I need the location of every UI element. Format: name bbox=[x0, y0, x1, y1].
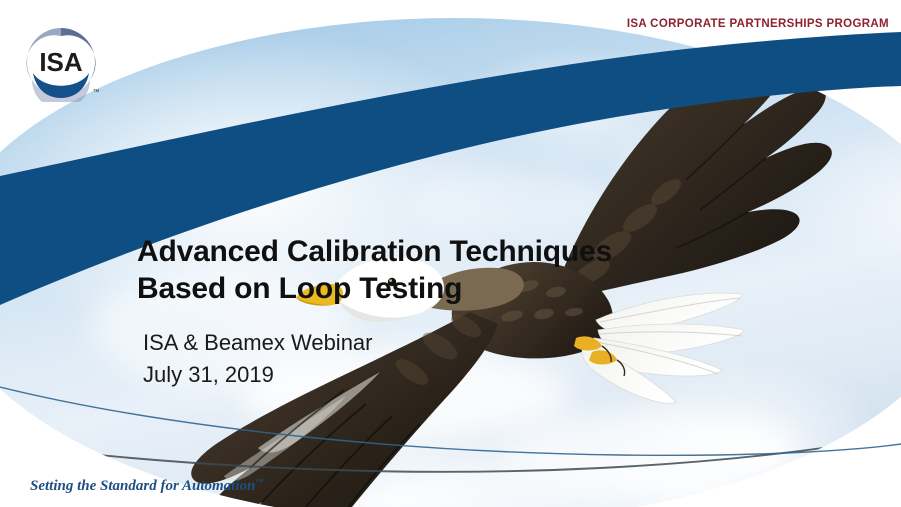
slide-subtitle-line-1: ISA & Beamex Webinar bbox=[143, 327, 603, 359]
isa-tagline-text: Setting the Standard for Automation bbox=[30, 478, 255, 494]
slide-subtitle: ISA & Beamex Webinar July 31, 2019 bbox=[143, 327, 603, 391]
isa-logo: ISA ™ bbox=[20, 24, 102, 102]
slide-subtitle-line-2: July 31, 2019 bbox=[143, 359, 603, 391]
isa-logo-wordmark: ISA bbox=[39, 47, 83, 77]
isa-tagline: Setting the Standard for Automation™ bbox=[30, 477, 263, 495]
isa-tagline-trademark: ™ bbox=[255, 477, 263, 486]
slide-title-line-2: Based on Loop Testing bbox=[137, 270, 697, 307]
presentation-slide: ISA ™ ISA CORPORATE PARTNERSHIPS PROGRAM… bbox=[0, 0, 901, 507]
slide-page-number: 1 bbox=[762, 476, 768, 488]
corporate-partnerships-program-label: ISA CORPORATE PARTNERSHIPS PROGRAM bbox=[627, 18, 889, 30]
slide-title-line-1: Advanced Calibration Techniques bbox=[137, 233, 697, 270]
isa-logo-trademark: ™ bbox=[93, 89, 100, 96]
slide-title: Advanced Calibration Techniques Based on… bbox=[137, 233, 697, 307]
